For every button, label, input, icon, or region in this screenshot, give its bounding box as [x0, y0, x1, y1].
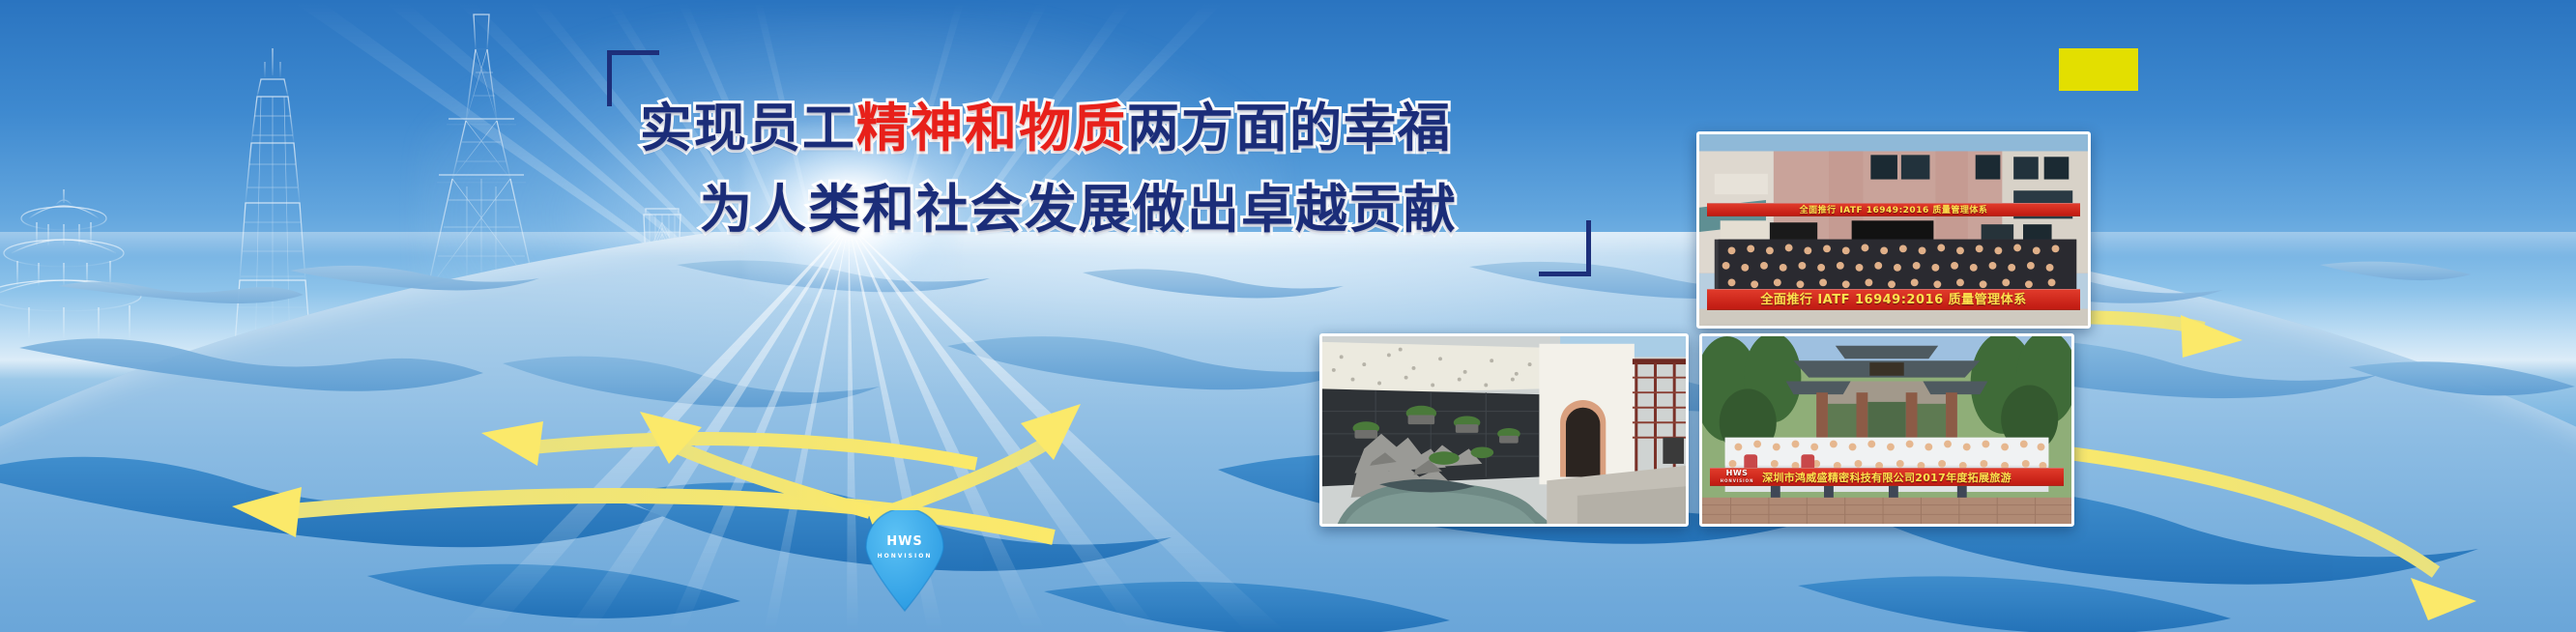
slogan-block: 实现员工精神和物质两方面的幸福 为人类和社会发展做出卓越贡献	[580, 50, 1624, 273]
photo-company-outing[interactable]: HWS HONVISION 深圳市鸿威盛精密科技有限公司2017年度拓展旅游	[1699, 333, 2074, 527]
yellow-accent-rectangle	[2059, 48, 2138, 91]
map-pin-logo[interactable]: HWS HONVISION	[860, 510, 949, 613]
outing-banner-logo: HWS HONVISION	[1721, 470, 1754, 485]
slogan-line2-seg1: 为人类和社会发展做出卓越贡献	[700, 179, 1458, 240]
slogan-line-1: 实现员工精神和物质两方面的幸福	[640, 85, 1452, 161]
photo-courtyard-graphic	[1322, 336, 1686, 524]
slogan-line1-seg1: 实现员工	[640, 98, 856, 158]
slogan-line-2: 为人类和社会发展做出卓越贡献	[700, 166, 1458, 243]
photo-factory-lower-banner: 全面推行 IATF 16949:2016 质量管理体系	[1707, 289, 2080, 310]
globe-surface	[0, 232, 2576, 632]
photo-factory-group[interactable]: 全面推行 IATF 16949:2016 质量管理体系 全面推行 IATF 16…	[1696, 131, 2091, 329]
map-pin-icon	[860, 510, 949, 613]
bracket-bottom-right-icon	[1539, 220, 1591, 276]
slogan-line1-seg3: 两方面的幸福	[1127, 98, 1452, 158]
corporate-banner: 实现员工精神和物质两方面的幸福 为人类和社会发展做出卓越贡献	[0, 0, 2576, 632]
photo-factory-upper-banner: 全面推行 IATF 16949:2016 质量管理体系	[1707, 203, 2080, 216]
outing-banner-text: 深圳市鸿威盛精密科技有限公司2017年度拓展旅游	[1762, 472, 2012, 484]
photo-outing-banner: HWS HONVISION 深圳市鸿威盛精密科技有限公司2017年度拓展旅游	[1710, 468, 2065, 486]
slogan-line1-seg2: 精神和物质	[856, 98, 1127, 158]
outing-banner-logo-sub: HONVISION	[1721, 477, 1754, 485]
outing-banner-logo-mark: HWS	[1726, 469, 1749, 477]
photo-outing-graphic	[1702, 336, 2071, 524]
photo-courtyard-garden[interactable]	[1319, 333, 1689, 527]
